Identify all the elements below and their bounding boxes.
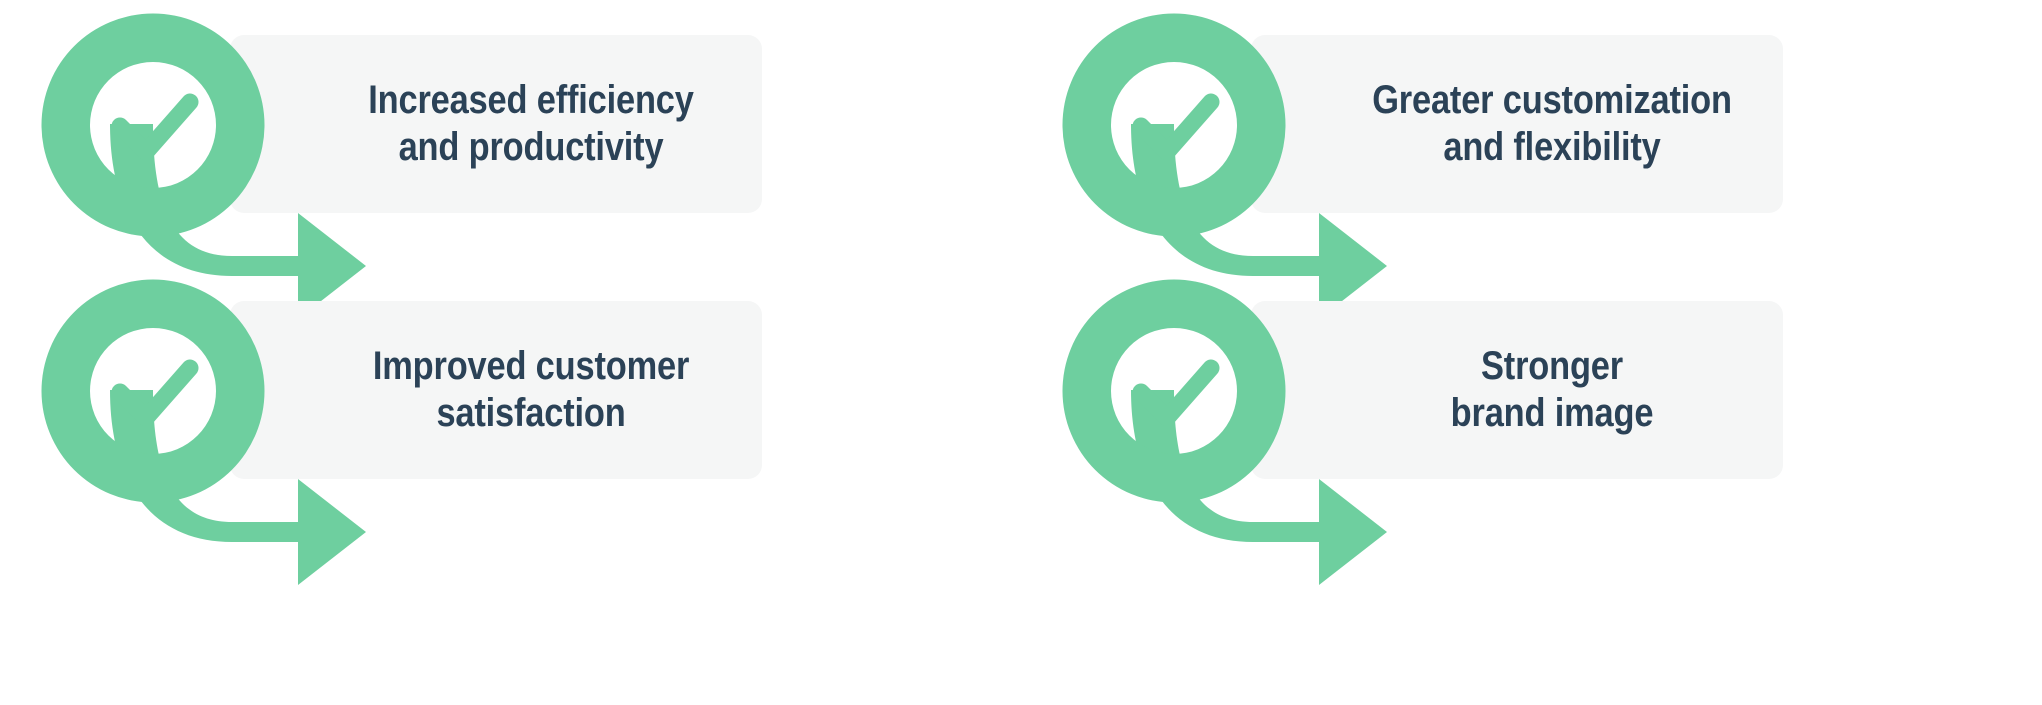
benefit-label-line-2: and flexibility — [1443, 124, 1660, 171]
benefit-label: Stronger brand image — [1353, 301, 1750, 479]
benefit-label-line-1: Greater customization — [1372, 77, 1732, 124]
check-icon — [1141, 102, 1211, 152]
benefit-label: Increased efficiency and productivity — [332, 35, 729, 213]
benefit-label-line-2: satisfaction — [436, 390, 625, 437]
check-icon — [120, 368, 190, 418]
benefit-label-line-1: Improved customer — [373, 343, 689, 390]
benefit-label-line-2: and productivity — [399, 124, 664, 171]
benefit-label-line-2: brand image — [1451, 390, 1654, 437]
benefit-label: Greater customization and flexibility — [1353, 35, 1750, 213]
benefit-item: Stronger brand image — [1021, 266, 2042, 618]
benefit-label-line-1: Stronger — [1481, 343, 1623, 390]
check-icon — [1141, 368, 1211, 418]
benefit-label: Improved customer satisfaction — [332, 301, 729, 479]
benefits-infographic: Increased efficiency and productivity Gr… — [0, 0, 2042, 705]
check-icon — [120, 102, 190, 152]
benefit-item: Improved customer satisfaction — [0, 266, 1021, 618]
benefit-label-line-1: Increased efficiency — [368, 77, 693, 124]
